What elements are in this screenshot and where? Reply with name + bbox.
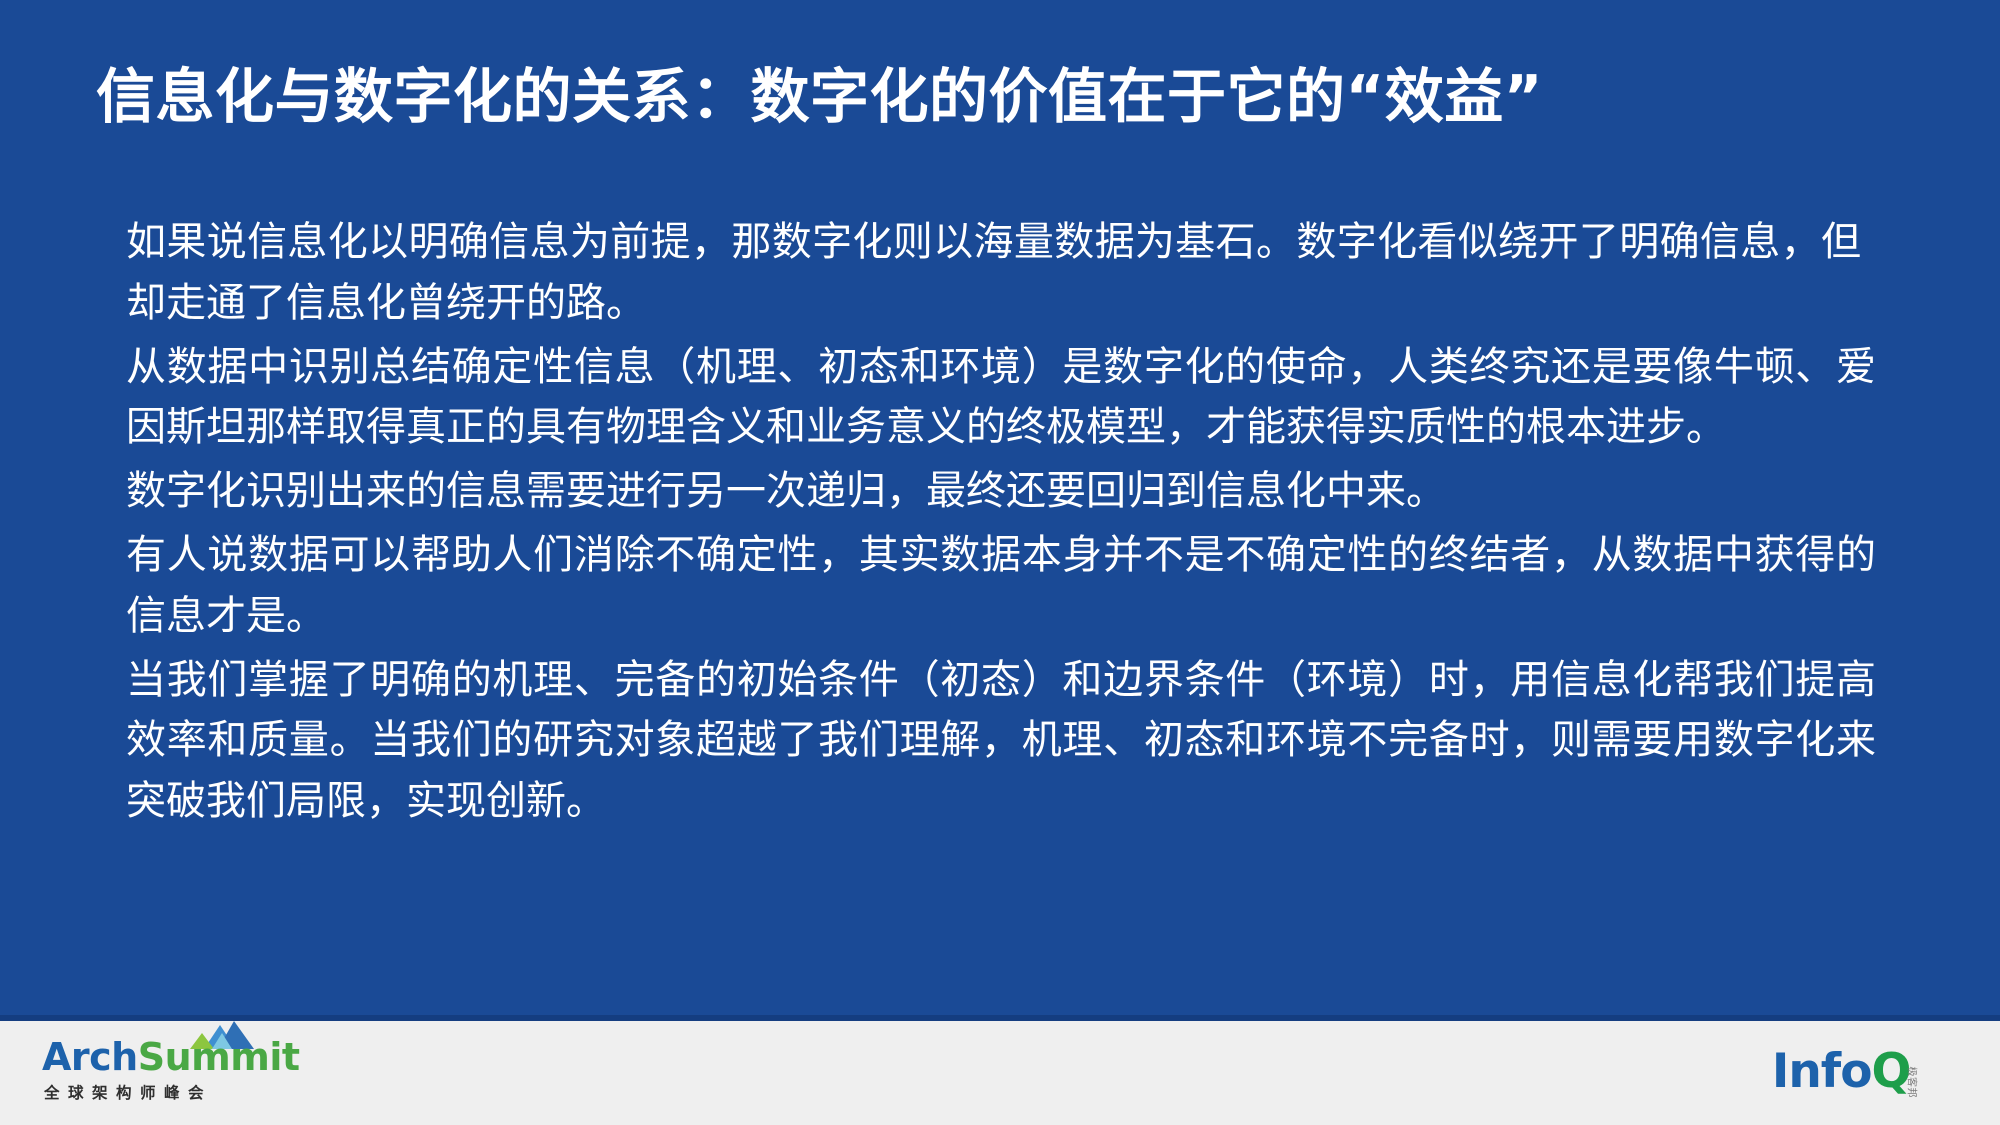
page-title: 信息化与数字化的关系：数字化的价值在于它的“效益” (96, 62, 1926, 132)
archsummit-summit: Summit (138, 1035, 300, 1079)
body-paragraph-5: 当我们掌握了明确的机理、完备的初始条件（初态）和边界条件（环境）时，用信息化帮我… (126, 650, 1876, 832)
body-paragraph-1: 如果说信息化以明确信息为前提，那数字化则以海量数据为基石。数字化看似绕开了明确信… (126, 212, 1861, 334)
footer-bar: ArchSummit 全球架构师峰会 InfoQ极客邦 (0, 1021, 2000, 1125)
body-content: 如果说信息化以明确信息为前提，那数字化则以海量数据为基石。数字化看似绕开了明确信… (126, 212, 1876, 835)
archsummit-text: ArchSummit (42, 1037, 300, 1077)
archsummit-arch: Arch (42, 1035, 138, 1079)
presentation-slide: 信息化与数字化的关系：数字化的价值在于它的“效益” 如果说信息化以明确信息为前提… (0, 0, 2000, 1125)
body-paragraph-2: 从数据中识别总结确定性信息（机理、初态和环境）是数字化的使命，人类终究还是要像牛… (126, 337, 1876, 459)
title-area: 信息化与数字化的关系：数字化的价值在于它的“效益” (96, 62, 1926, 132)
archsummit-subtitle: 全球架构师峰会 (44, 1081, 280, 1103)
archsummit-logo: ArchSummit 全球架构师峰会 (42, 1033, 282, 1115)
body-paragraph-3: 数字化识别出来的信息需要进行另一次递归，最终还要回归到信息化中来。 (126, 461, 1876, 522)
body-paragraph-4: 有人说数据可以帮助人们消除不确定性，其实数据本身并不是不确定性的终结者，从数据中… (126, 525, 1876, 647)
infoq-info: Info (1772, 1044, 1872, 1099)
infoq-wordmark: InfoQ (1772, 1044, 1911, 1099)
archsummit-wordmark: ArchSummit (42, 1033, 282, 1079)
infoq-tagline: 极客邦 (1905, 1067, 1920, 1099)
infoq-logo: InfoQ极客邦 (1772, 1043, 1942, 1101)
